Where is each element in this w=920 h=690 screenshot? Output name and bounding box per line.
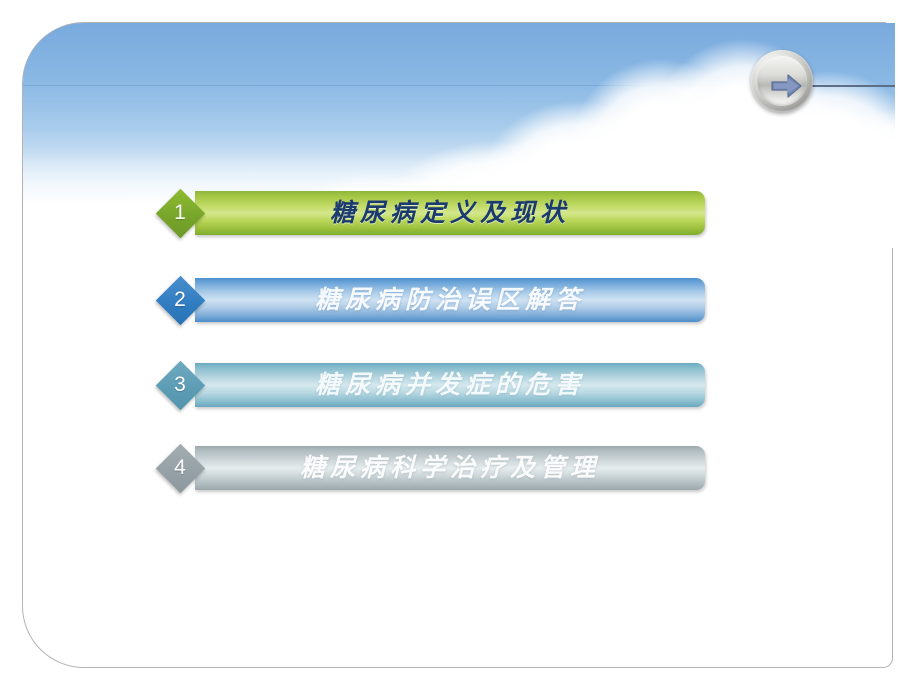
- agenda-label-2: 糖尿病防治误区解答: [195, 278, 705, 322]
- agenda-number-4: 4: [155, 443, 205, 493]
- agenda-row-2[interactable]: 糖尿病防治误区解答 2: [155, 275, 705, 325]
- agenda-label-4: 糖尿病科学治疗及管理: [195, 446, 705, 490]
- agenda-bar-3[interactable]: 糖尿病并发症的危害: [195, 363, 705, 407]
- agenda-number-2: 2: [155, 275, 205, 325]
- agenda-number-3: 3: [155, 360, 205, 410]
- agenda-label-1: 糖尿病定义及现状: [195, 191, 705, 235]
- agenda-row-3[interactable]: 糖尿病并发症的危害 3: [155, 360, 705, 410]
- agenda-bar-2[interactable]: 糖尿病防治误区解答: [195, 278, 705, 322]
- agenda-badge-3: 3: [155, 360, 205, 410]
- agenda-bar-4[interactable]: 糖尿病科学治疗及管理: [195, 446, 705, 490]
- agenda-badge-1: 1: [155, 188, 205, 238]
- agenda-badge-4: 4: [155, 443, 205, 493]
- presentation-slide: 糖尿病定义及现状 1 糖尿病防治误区解答 2 糖尿病并发症的危害 3: [0, 0, 920, 690]
- agenda-badge-2: 2: [155, 275, 205, 325]
- agenda-label-3: 糖尿病并发症的危害: [195, 363, 705, 407]
- agenda-bar-1[interactable]: 糖尿病定义及现状: [195, 191, 705, 235]
- agenda-number-1: 1: [155, 188, 205, 238]
- agenda-row-4[interactable]: 糖尿病科学治疗及管理 4: [155, 443, 705, 493]
- agenda-list: 糖尿病定义及现状 1 糖尿病防治误区解答 2 糖尿病并发症的危害 3: [0, 0, 920, 690]
- agenda-row-1[interactable]: 糖尿病定义及现状 1: [155, 188, 705, 238]
